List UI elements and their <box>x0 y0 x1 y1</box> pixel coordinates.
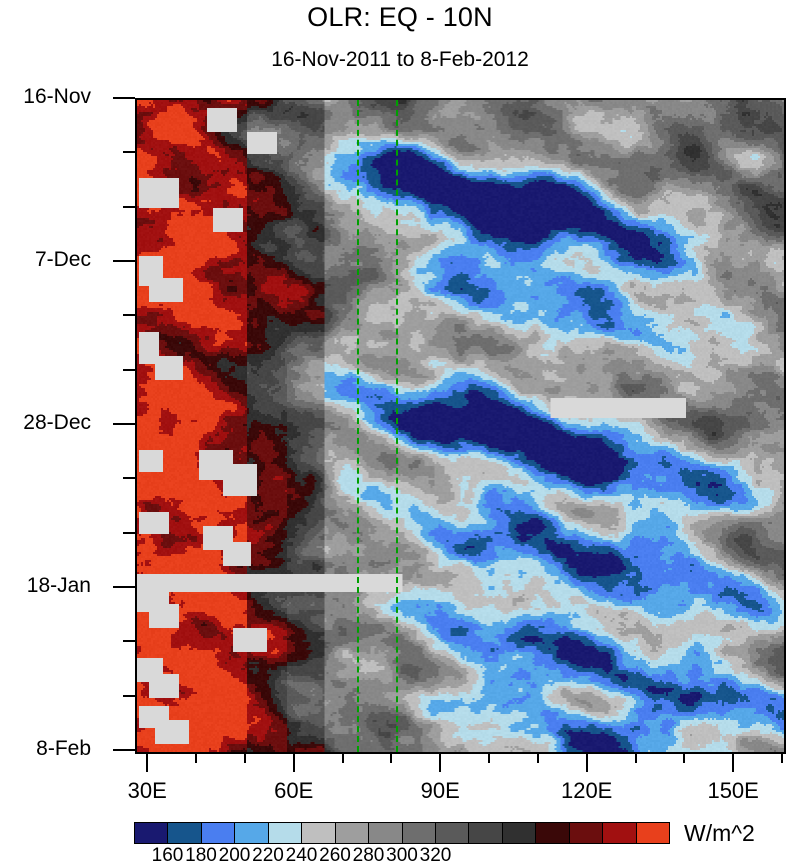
y-tick-minor <box>123 640 135 642</box>
colorbar-tick-label: 200 <box>219 845 251 867</box>
y-axis-label: 16-Nov <box>23 85 91 109</box>
colorbar-swatch <box>335 823 368 843</box>
colorbar-tick-label: 280 <box>353 845 385 867</box>
y-axis-label: 18-Jan <box>27 574 91 598</box>
colorbar-swatch <box>602 823 635 843</box>
reference-vline <box>357 100 359 752</box>
y-axis-label: 8-Feb <box>36 737 91 761</box>
y-tick-minor <box>123 695 135 697</box>
colorbar-tick-label: 320 <box>420 845 452 867</box>
x-tick-major <box>586 752 588 772</box>
y-tick-major <box>113 423 135 425</box>
colorbar-swatch <box>234 823 267 843</box>
olr-heatmap <box>137 100 784 752</box>
x-tick-major <box>439 752 441 772</box>
hovmoller-figure: OLR: EQ - 10N 16-Nov-2011 to 8-Feb-2012 … <box>0 0 800 863</box>
y-tick-minor <box>123 151 135 153</box>
x-axis-label: 120E <box>561 778 612 804</box>
colorbar-swatch <box>569 823 602 843</box>
page-title: OLR: EQ - 10N <box>0 2 800 33</box>
y-tick-major <box>113 749 135 751</box>
colorbar-swatch <box>636 823 669 843</box>
colorbar-tick-label: 220 <box>252 845 284 867</box>
plot-area <box>135 98 786 754</box>
y-axis-label: 28-Dec <box>23 411 91 435</box>
colorbar-swatch <box>368 823 401 843</box>
x-axis-label: 30E <box>128 778 167 804</box>
reference-vline <box>396 100 398 752</box>
colorbar-tick-label: 300 <box>386 845 418 867</box>
colorbar-swatch <box>268 823 301 843</box>
y-tick-major <box>113 586 135 588</box>
colorbar-swatch <box>167 823 200 843</box>
x-axis-label: 150E <box>707 778 758 804</box>
x-tick-major <box>146 752 148 772</box>
x-tick-major <box>732 752 734 772</box>
y-tick-minor <box>123 532 135 534</box>
colorbar-tick-label: 160 <box>152 845 184 867</box>
colorbar-tick-label: 260 <box>319 845 351 867</box>
colorbar-swatch <box>301 823 334 843</box>
colorbar <box>134 822 670 844</box>
colorbar-swatch <box>535 823 568 843</box>
y-tick-minor <box>123 206 135 208</box>
colorbar-swatch <box>468 823 501 843</box>
colorbar-swatch <box>435 823 468 843</box>
page-subtitle: 16-Nov-2011 to 8-Feb-2012 <box>0 48 800 72</box>
y-tick-major <box>113 260 135 262</box>
y-tick-minor <box>123 314 135 316</box>
y-tick-minor <box>123 369 135 371</box>
colorbar-swatch <box>402 823 435 843</box>
colorbar-tick-label: 240 <box>286 845 318 867</box>
colorbar-swatch <box>201 823 234 843</box>
colorbar-swatch <box>502 823 535 843</box>
x-axis-label: 60E <box>274 778 313 804</box>
y-tick-major <box>113 97 135 99</box>
x-axis-label: 90E <box>421 778 460 804</box>
y-axis-label: 7-Dec <box>35 248 91 272</box>
colorbar-swatch <box>135 823 167 843</box>
x-tick-major <box>293 752 295 772</box>
y-tick-minor <box>123 477 135 479</box>
colorbar-units-label: W/m^2 <box>684 820 755 847</box>
colorbar-tick-label: 180 <box>185 845 217 867</box>
